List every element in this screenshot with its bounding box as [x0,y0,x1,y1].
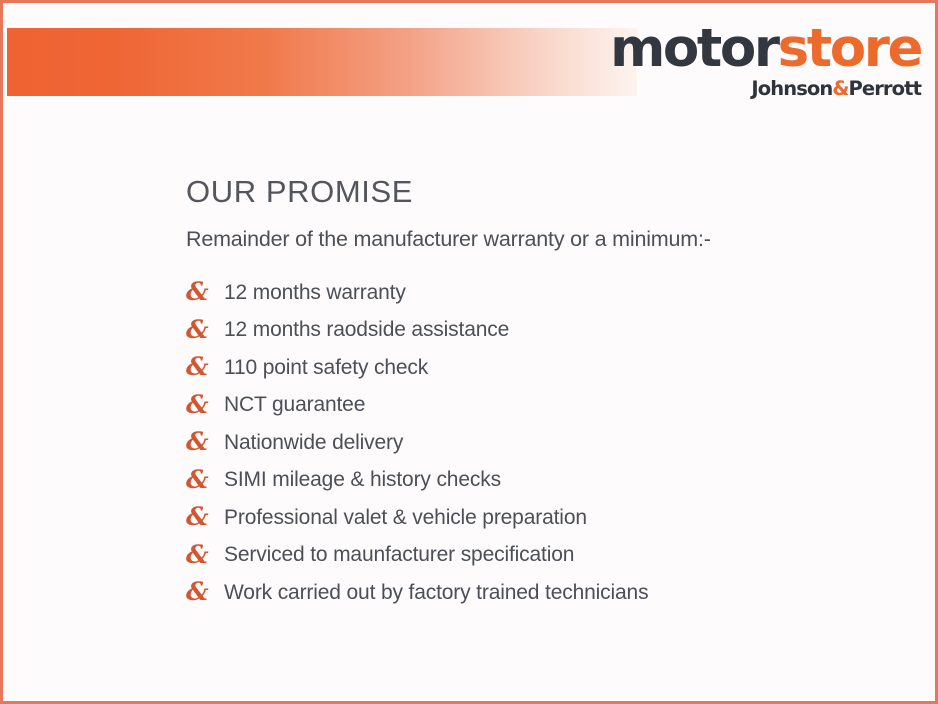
list-item: & 110 point safety check [186,349,906,387]
ampersand-bullet-icon: & [186,354,224,379]
ampersand-bullet-icon: & [186,467,224,492]
header-banner: motorstore Johnson&Perrott [0,0,938,112]
list-item-label: 12 months warranty [224,281,406,305]
ampersand-bullet-icon: & [186,504,224,529]
ampersand-bullet-icon: & [186,279,224,304]
ampersand-bullet-icon: & [186,317,224,342]
list-item-label: Nationwide delivery [224,431,403,455]
list-item-label: SIMI mileage & history checks [224,468,501,492]
list-item-label: 110 point safety check [224,356,428,380]
list-item: & NCT guarantee [186,387,906,425]
list-item: & Professional valet & vehicle preparati… [186,499,906,537]
list-item-label: Work carried out by factory trained tech… [224,581,648,605]
list-item: & 12 months warranty [186,274,906,312]
logo-sub-perrott: Perrott [849,77,922,100]
promise-subtitle: Remainder of the manufacturer warranty o… [186,227,906,252]
list-item-label: Serviced to maunfacturer specification [224,543,574,567]
promise-slide: motorstore Johnson&Perrott OUR PROMISE R… [0,0,938,704]
list-item-label: Professional valet & vehicle preparation [224,506,587,530]
promise-list: & 12 months warranty & 12 months raodsid… [186,274,906,612]
content-area: OUR PROMISE Remainder of the manufacture… [186,175,906,612]
logo-subtitle: Johnson&Perrott [610,79,921,99]
logo-sub-ampersand-icon: & [832,77,848,100]
list-item: & SIMI mileage & history checks [186,462,906,500]
ampersand-bullet-icon: & [186,429,224,454]
ampersand-bullet-icon: & [186,392,224,417]
list-item: & Serviced to maunfacturer specification [186,537,906,575]
ampersand-bullet-icon: & [186,579,224,604]
list-item-label: 12 months raodside assistance [224,318,509,342]
list-item: & 12 months raodside assistance [186,312,906,350]
list-item: & Work carried out by factory trained te… [186,574,906,612]
list-item-label: NCT guarantee [224,393,365,417]
brand-logo: motorstore Johnson&Perrott [610,22,921,99]
logo-sub-johnson: Johnson [751,77,832,100]
orange-gradient-bar [0,28,637,96]
logo-word-motor: motor [610,18,778,79]
list-item: & Nationwide delivery [186,424,906,462]
logo-word-store: store [778,18,921,79]
logo-wordmark: motorstore [610,22,921,75]
page-title: OUR PROMISE [186,175,906,209]
ampersand-bullet-icon: & [186,542,224,567]
